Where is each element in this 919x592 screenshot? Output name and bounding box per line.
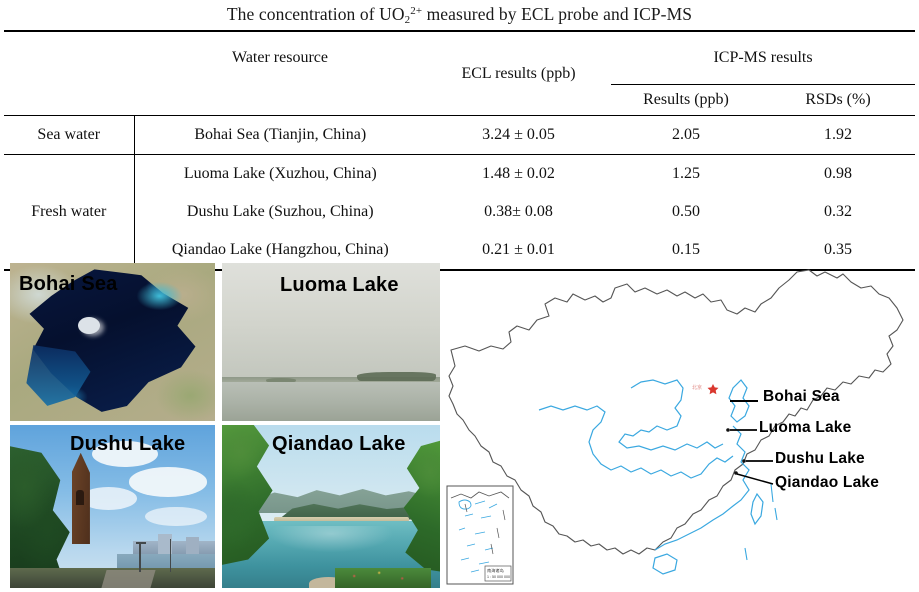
cell-rsd-luoma: 0.98: [761, 155, 915, 194]
photo-label-dushu-lake: Dushu Lake: [70, 433, 185, 456]
dushu-cloud: [145, 507, 207, 527]
leader-line-qiandao: [737, 474, 773, 484]
dushu-building: [186, 537, 198, 555]
photo-qiandao-lake: Qiandao Lake: [222, 425, 440, 588]
inset-map-south-china-sea: 南海诸岛 1 : 50 000 000: [447, 486, 513, 584]
table-header-row: Water resource ECL results (ppb) ICP-MS …: [4, 31, 915, 85]
photo-luoma-lake: Luoma Lake: [222, 263, 440, 421]
cell-rsd-dushu: 0.32: [761, 193, 915, 231]
photo-bohai-sea: Bohai Sea: [10, 263, 215, 421]
map-label-qiandao-lake: Qiandao Lake: [775, 474, 879, 492]
cell-category-sea-water: Sea water: [4, 116, 134, 155]
china-border-outline: [449, 270, 903, 554]
cell-resource-bohai: Bohai Sea (Tianjin, China): [134, 116, 426, 155]
cell-rsd-bohai: 1.92: [761, 116, 915, 155]
concentration-table: Water resource ECL results (ppb) ICP-MS …: [4, 30, 915, 271]
luoma-water: [222, 382, 440, 422]
dushu-lamp-arm: [136, 542, 146, 544]
table-title: The concentration of UO22+ measured by E…: [0, 4, 919, 26]
beijing-label: 北京: [692, 384, 702, 391]
cell-resource-dushu: Dushu Lake (Suzhou, China): [134, 193, 426, 231]
dushu-path: [102, 570, 156, 588]
subheader-icp-results-ppb: Results (ppb): [611, 85, 761, 116]
qiandao-water-reflection: [270, 526, 392, 552]
satellite-shallow-water: [137, 282, 182, 310]
inset-scale-ratio: 1 : 50 000 000: [487, 575, 510, 579]
cell-icp-luoma: 1.25: [611, 155, 761, 194]
header-spacer-cell: [4, 31, 134, 85]
table-row: Fresh water Luoma Lake (Xuzhou, China) 1…: [4, 155, 915, 194]
satellite-cloud: [78, 317, 101, 334]
cell-icp-bohai: 2.05: [611, 116, 761, 155]
dushu-cloud: [129, 467, 207, 496]
dushu-lamp-post: [170, 539, 171, 572]
china-map: 北京 南海诸岛 1 : 50 000 000: [445, 258, 919, 592]
hainan-island: [653, 554, 677, 574]
map-label-luoma-lake: Luoma Lake: [759, 419, 851, 437]
cell-category-fresh-water: Fresh water: [4, 155, 134, 271]
subheader-spacer-left: [4, 85, 134, 116]
map-dot-dushu: [742, 459, 746, 463]
table-title-suffix: measured by ECL probe and ICP-MS: [422, 4, 692, 24]
results-table-section: The concentration of UO22+ measured by E…: [0, 0, 919, 250]
subheader-spacer-resource: [134, 85, 426, 116]
cell-ecl-bohai: 3.24 ± 0.05: [426, 116, 611, 155]
figure-page: The concentration of UO22+ measured by E…: [0, 0, 919, 592]
dushu-lamp-post: [139, 542, 140, 571]
photo-label-qiandao-lake: Qiandao Lake: [272, 433, 406, 456]
photo-label-bohai-sea: Bohai Sea: [19, 273, 118, 296]
map-label-bohai-sea: Bohai Sea: [763, 388, 840, 406]
header-icp-ms-results: ICP-MS results: [611, 31, 915, 85]
cell-ecl-luoma: 1.48 ± 0.02: [426, 155, 611, 194]
table-row: Dushu Lake (Suzhou, China) 0.38± 0.08 0.…: [4, 193, 915, 231]
qiandao-flowerbed: [335, 568, 431, 588]
cell-icp-dushu: 0.50: [611, 193, 761, 231]
table-title-prefix: The concentration of UO: [227, 4, 405, 24]
map-label-dushu-lake: Dushu Lake: [775, 450, 865, 468]
photo-grid: Bohai Sea Luoma Lake: [10, 263, 440, 588]
header-water-resource: Water resource: [134, 31, 426, 85]
photo-label-luoma-lake: Luoma Lake: [280, 274, 399, 297]
cell-resource-luoma: Luoma Lake (Xuzhou, China): [134, 155, 426, 194]
subheader-icp-rsds: RSDs (%): [761, 85, 915, 116]
taiwan-island: [751, 494, 763, 524]
coastal-detail-line: [745, 484, 777, 560]
photo-dushu-lake: Dushu Lake: [10, 425, 215, 588]
cell-ecl-dushu: 0.38± 0.08: [426, 193, 611, 231]
map-dot-luoma: [726, 428, 730, 432]
luoma-island: [357, 372, 435, 381]
dushu-church-window: [76, 490, 84, 505]
header-ecl-results: ECL results (ppb): [426, 31, 611, 116]
inset-scale-title: 南海诸岛: [487, 567, 504, 574]
table-title-superscript: 2+: [410, 5, 422, 17]
table-row: Sea water Bohai Sea (Tianjin, China) 3.2…: [4, 116, 915, 155]
